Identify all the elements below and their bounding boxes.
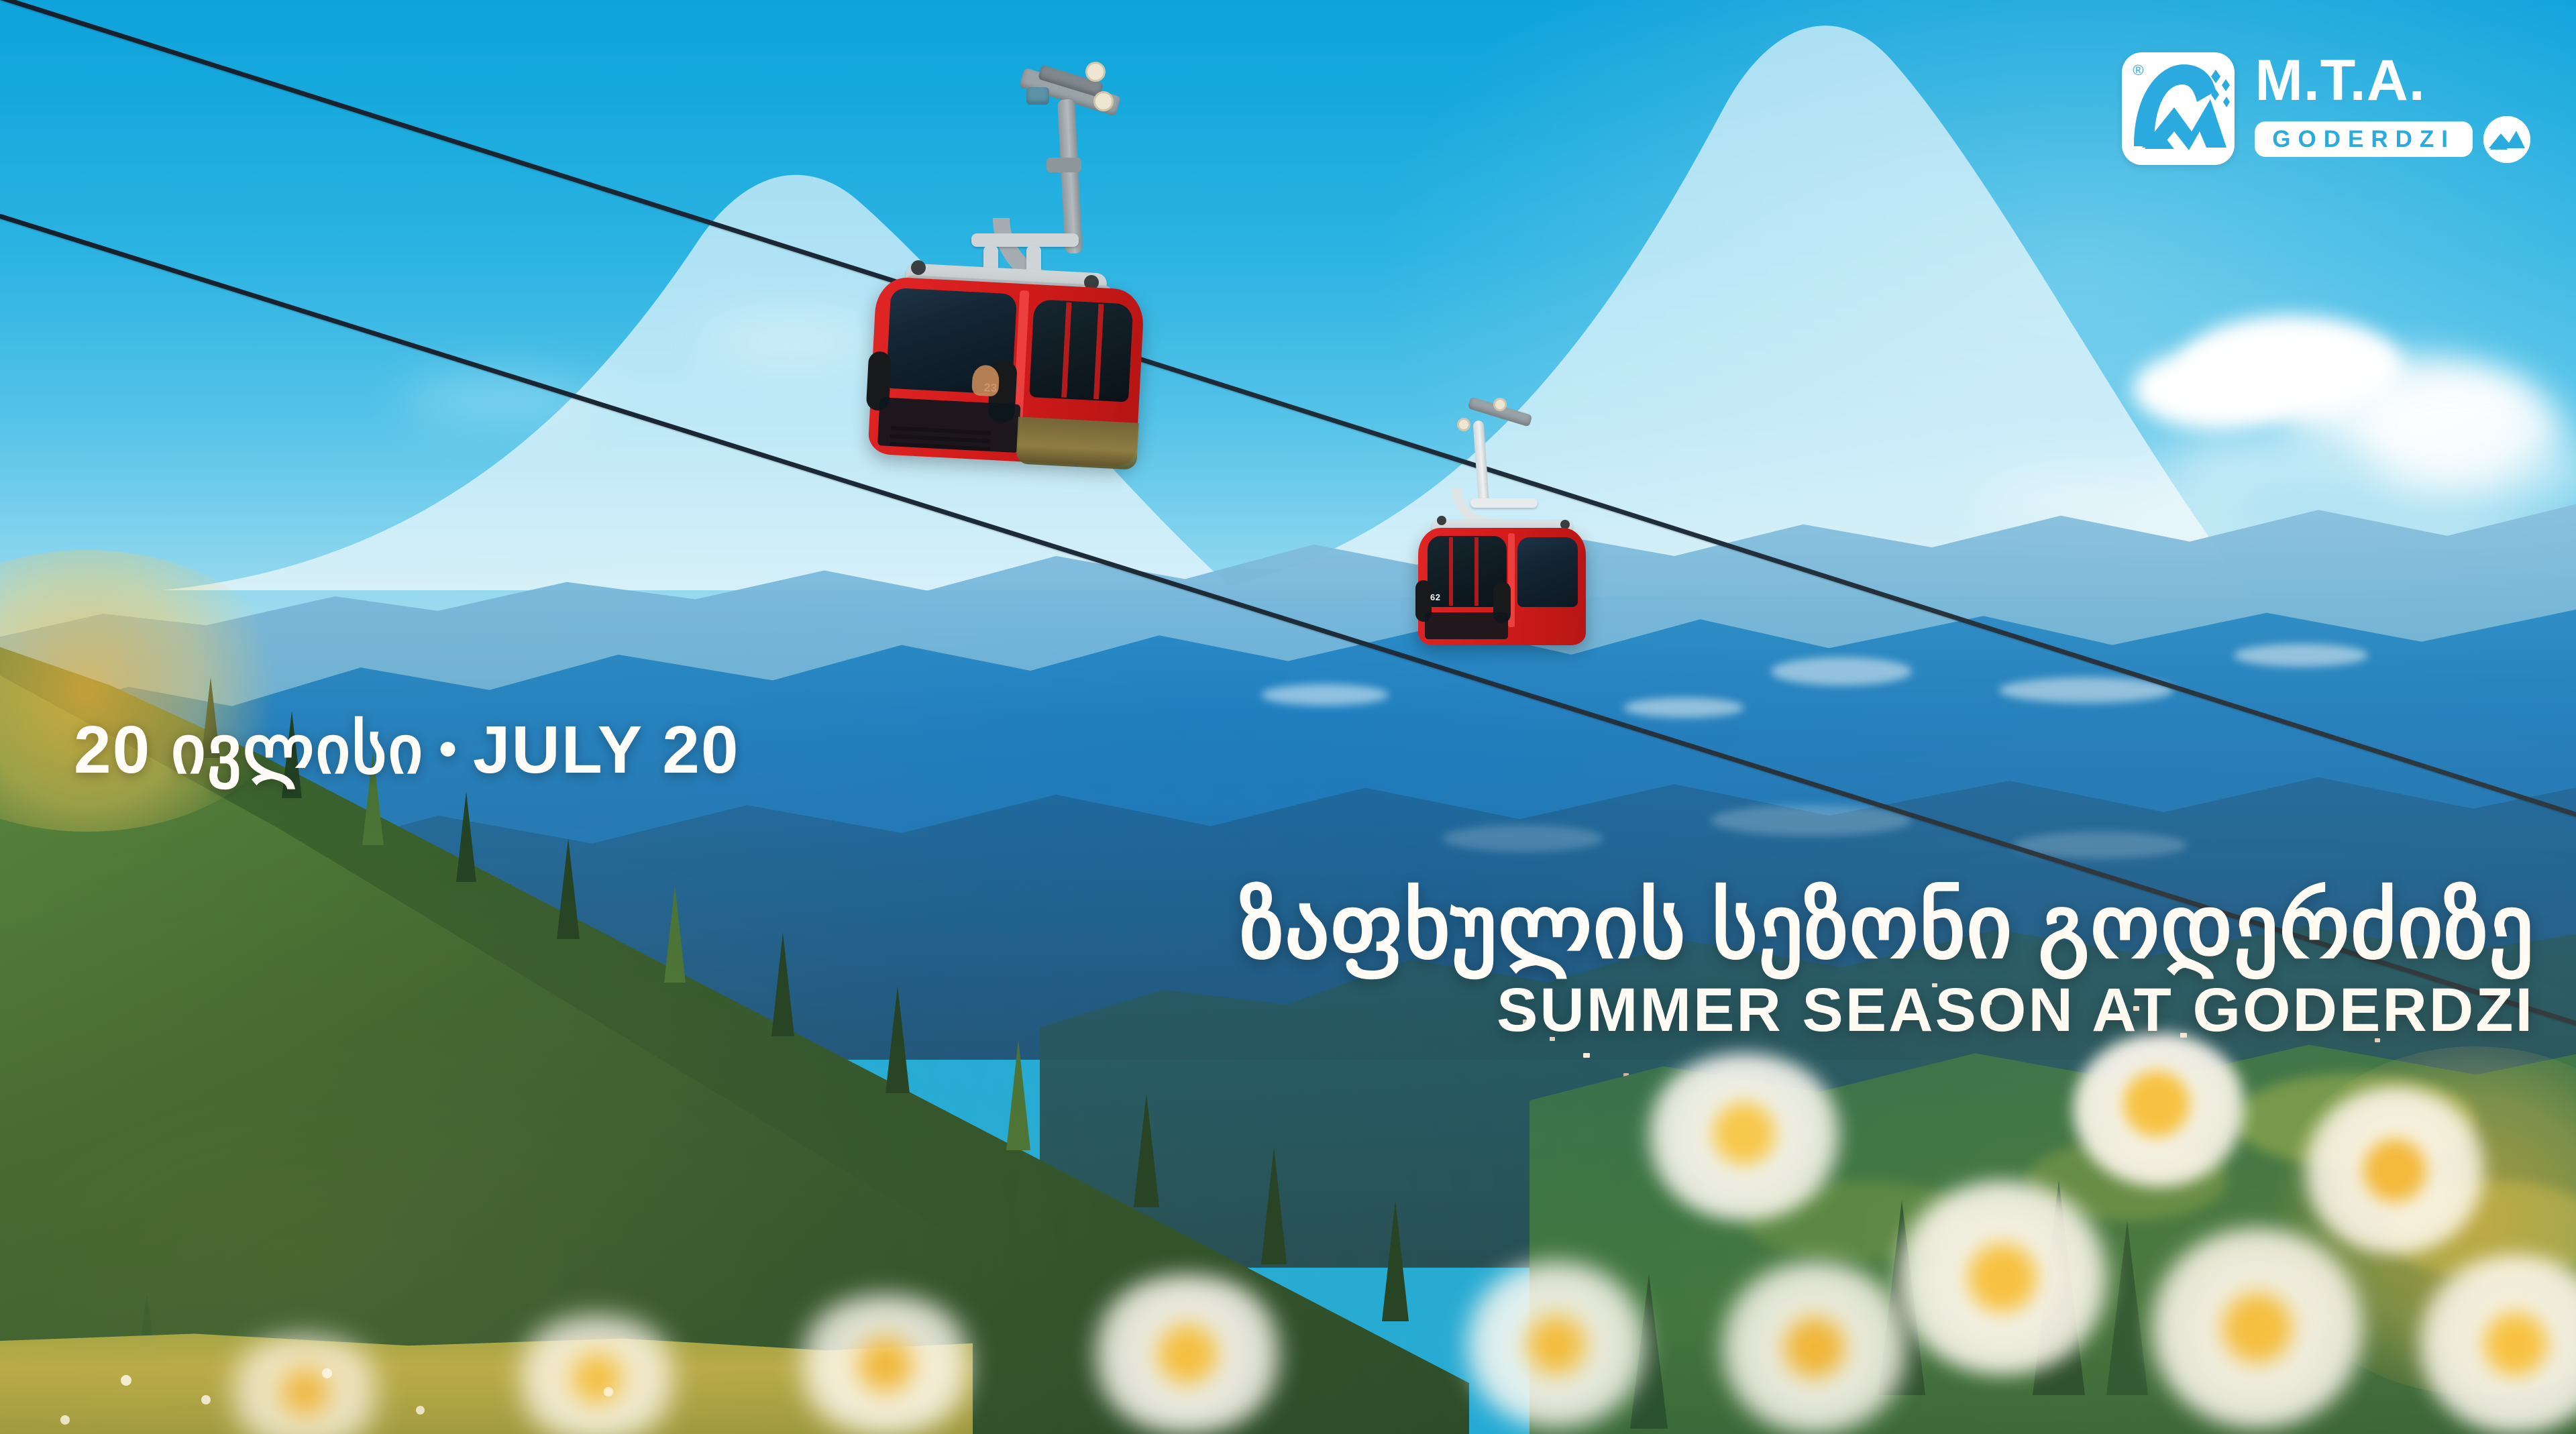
resort-name-pill: GODERDZI xyxy=(2255,121,2473,157)
snow-patch xyxy=(1771,657,1912,685)
headline-english: SUMMER SEASON AT GODERDZI xyxy=(1240,978,2534,1043)
grip-roller xyxy=(1457,418,1470,431)
logo-text-group: M.T.A. GODERDZI xyxy=(2255,54,2530,162)
wildflower-speck xyxy=(60,1415,70,1425)
gondola-cabin-secondary: 62 xyxy=(1395,386,1650,654)
cabin-ski-basket xyxy=(1016,417,1138,470)
cabin-roof-rack xyxy=(1470,498,1538,508)
snow-patch xyxy=(2234,644,2368,667)
flower-bokeh-daisy xyxy=(1892,1180,2113,1375)
cabin-roof-rack xyxy=(971,233,1079,247)
mountain-badge-icon xyxy=(2483,116,2530,163)
wildflower-speck xyxy=(121,1375,131,1386)
cabin-window-side xyxy=(1029,299,1133,402)
cable-grip xyxy=(1026,87,1049,105)
logo-subrow: GODERDZI xyxy=(2255,116,2530,163)
mta-logo[interactable]: ® M.T.A. GODERDZI xyxy=(2122,52,2530,165)
roof-fitting xyxy=(1437,516,1446,525)
snow-patch xyxy=(1999,677,2173,703)
poster-canvas: 23 62 xyxy=(0,0,2576,1434)
grip-roller xyxy=(1093,91,1114,111)
flower-bokeh-daisy xyxy=(1717,1261,1912,1434)
date-separator-bullet: • xyxy=(439,720,458,777)
snow-patch xyxy=(1261,684,1389,706)
mta-mountain-mark-icon: ® xyxy=(2122,52,2235,165)
mountain-badge-glyph xyxy=(2483,116,2530,163)
cloud-shape xyxy=(402,376,604,423)
cabin-window-front xyxy=(1517,537,1578,607)
snow-patch xyxy=(1442,825,1603,852)
flower-bokeh-daisy xyxy=(2301,1087,2489,1254)
cabin-lower-panel xyxy=(1425,612,1508,639)
registered-trademark-symbol: ® xyxy=(2133,62,2143,79)
cabin-body: 62 xyxy=(1418,528,1586,645)
cabin-window-mullion xyxy=(1449,537,1453,606)
wildflower-speck xyxy=(201,1395,211,1404)
event-date-line: 20 ივლისი•JULY 20 xyxy=(74,716,740,783)
flower-bokeh-daisy xyxy=(1644,1053,1845,1221)
snow-patch xyxy=(1623,698,1744,718)
grip-roller xyxy=(1493,398,1507,411)
cabin-number-label: 62 xyxy=(1430,592,1440,602)
gondola-cabin-primary: 23 xyxy=(825,47,1241,490)
flower-bokeh-daisy xyxy=(1087,1274,1288,1434)
roof-fitting xyxy=(911,260,926,275)
flower-bokeh-daisy xyxy=(2147,1227,2368,1429)
resort-name-label: GODERDZI xyxy=(2272,127,2455,151)
date-georgian: 20 ივლისი xyxy=(74,712,424,787)
wildflower-speck xyxy=(416,1406,425,1415)
grip-roller xyxy=(1085,62,1106,82)
wildflower-speck xyxy=(322,1368,332,1378)
hanger-arm-bracket xyxy=(1046,158,1081,172)
village-speck xyxy=(1583,1053,1590,1058)
date-english: JULY 20 xyxy=(473,712,740,787)
headline-block: ზაფხულის სეზონი გოდერძიზე SUMMER SEASON … xyxy=(1240,882,2534,1042)
logo-wordmark: M.T.A. xyxy=(2255,54,2530,107)
headline-georgian: ზაფხულის სეზონი გოდერძიზე xyxy=(1240,882,2534,973)
cabin-window-mullion xyxy=(1474,537,1479,606)
snow-patch xyxy=(1711,805,1912,836)
cloud-shape xyxy=(2133,349,2301,429)
flower-bokeh-daisy xyxy=(1462,1261,1650,1429)
wildflower-speck xyxy=(604,1387,613,1396)
flower-bokeh-daisy xyxy=(792,1294,979,1434)
flower-bokeh-daisy xyxy=(510,1315,684,1434)
flower-bokeh-daisy xyxy=(2073,1033,2247,1187)
